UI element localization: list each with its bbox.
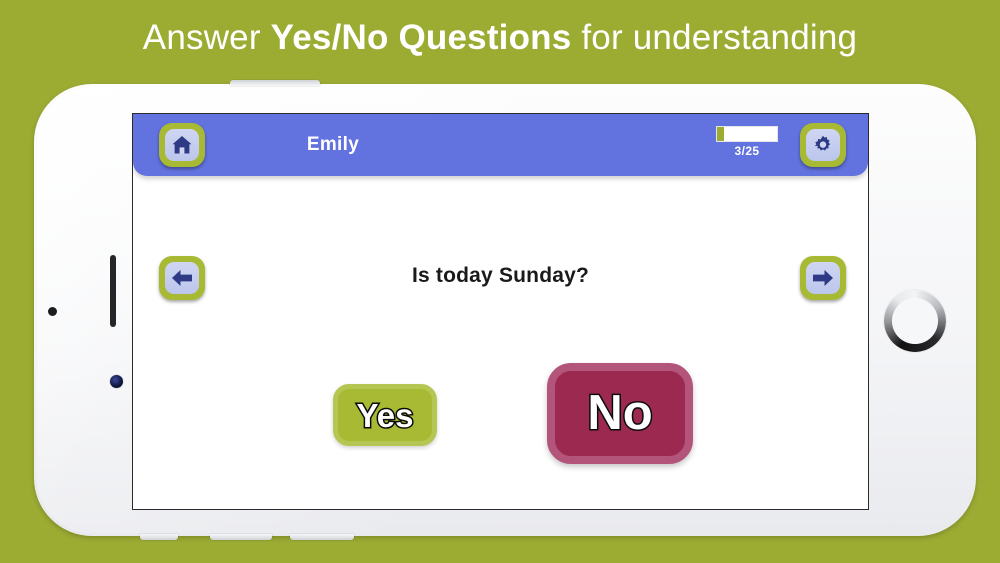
screenshot-stage: Answer Yes/No Questions for understandin… — [0, 0, 1000, 563]
progress-fill — [717, 127, 724, 141]
question-area: Is today Sunday? Yes No — [133, 176, 868, 509]
answer-yes-button[interactable]: Yes — [333, 384, 437, 446]
answer-buttons: Yes No — [133, 363, 868, 473]
power-button[interactable] — [230, 80, 320, 86]
promo-suffix: for understanding — [571, 18, 857, 57]
answer-no-label: No — [587, 389, 652, 438]
next-question-button[interactable] — [800, 256, 846, 300]
progress-track — [716, 126, 778, 142]
arrow-right-icon — [806, 262, 840, 294]
phone-mockup: Emily 3/25 — [34, 84, 976, 536]
proximity-sensor-icon — [48, 307, 57, 316]
device-home-button[interactable] — [884, 290, 946, 352]
progress-indicator: 3/25 — [716, 126, 778, 158]
gear-icon — [806, 129, 840, 161]
answer-no-button[interactable]: No — [547, 363, 693, 464]
volume-down-button[interactable] — [210, 534, 272, 540]
mute-switch[interactable] — [140, 534, 178, 540]
device-screen: Emily 3/25 — [132, 113, 869, 510]
promo-prefix: Answer — [143, 18, 271, 57]
answer-yes-label: Yes — [357, 399, 414, 432]
front-camera-icon — [110, 375, 123, 388]
promo-headline: Answer Yes/No Questions for understandin… — [0, 16, 1000, 60]
app-title: Emily — [133, 114, 533, 176]
app-bar: Emily 3/25 — [133, 114, 868, 176]
question-text: Is today Sunday? — [133, 264, 868, 288]
earpiece-speaker-icon — [110, 255, 116, 327]
progress-label: 3/25 — [716, 144, 778, 158]
promo-emphasis: Yes/No Questions — [271, 18, 572, 57]
settings-button[interactable] — [800, 123, 846, 167]
volume-up-button[interactable] — [290, 534, 354, 540]
